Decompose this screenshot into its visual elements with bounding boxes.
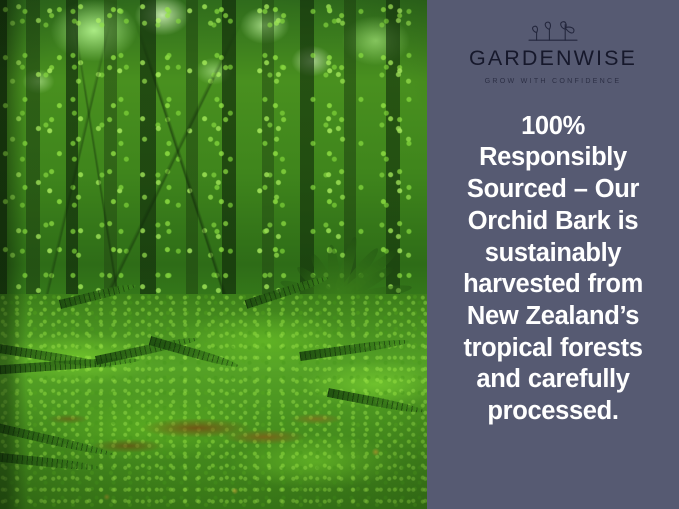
brand-tagline: GROW WITH CONFIDENCE [485,78,622,85]
three-sprouts-icon [525,17,581,44]
headline-line: and carefully [434,364,672,396]
headline-line: tropical forests [434,333,672,365]
headline-line: Orchid Bark is [434,206,672,238]
brand-wordmark: GARDENWISE [469,48,637,70]
message-panel: GARDENWISE GROW WITH CONFIDENCE 100% Res… [427,0,679,509]
headline-line: 100% [434,111,672,143]
headline-line: harvested from [434,269,672,301]
brand-logo: GARDENWISE GROW WITH CONFIDENCE [427,17,679,85]
forest-photo [0,0,427,509]
headline-line: Responsibly [434,142,672,174]
headline-line: sustainably [434,238,672,270]
headline-line: Sourced – Our [434,174,672,206]
photo-vignette [0,0,427,509]
promotional-banner: GARDENWISE GROW WITH CONFIDENCE 100% Res… [0,0,679,509]
headline-line: processed. [434,396,672,428]
headline-line: New Zealand’s [434,301,672,333]
headline-text: 100% Responsibly Sourced – Our Orchid Ba… [434,111,672,428]
